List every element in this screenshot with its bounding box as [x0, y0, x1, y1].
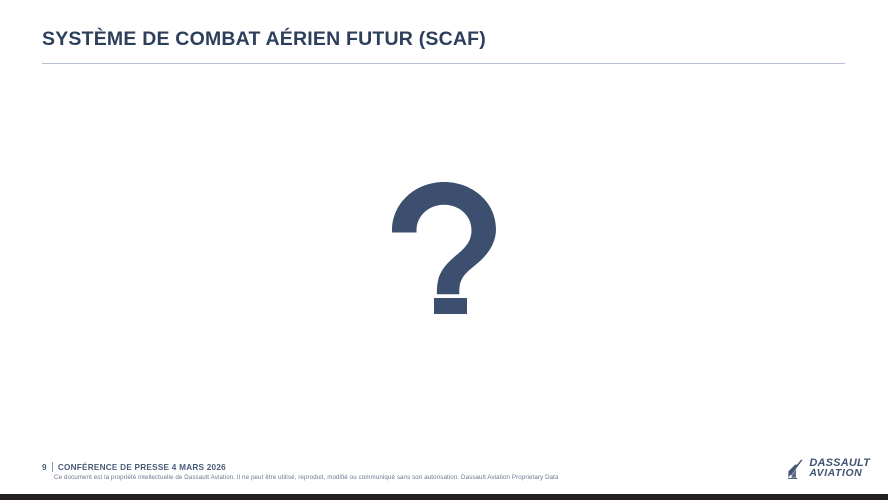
title-divider	[42, 63, 845, 64]
dassault-delta-wing-icon	[787, 459, 806, 479]
footer-disclaimer: Ce document est la propriété intellectue…	[54, 474, 559, 481]
logo-wordmark: DASSAULT AVIATION	[809, 458, 870, 480]
presentation-slide: SYSTÈME DE COMBAT AÉRIEN FUTUR (SCAF) 9 …	[0, 0, 888, 500]
bottom-accent-bar	[0, 494, 888, 500]
question-mark-icon	[392, 182, 496, 314]
footer-event-title: CONFÉRENCE DE PRESSE 4 MARS 2026	[58, 463, 226, 472]
slide-header: SYSTÈME DE COMBAT AÉRIEN FUTUR (SCAF)	[42, 28, 846, 64]
footer-event-line: 9 CONFÉRENCE DE PRESSE 4 MARS 2026	[42, 462, 559, 472]
footer-info: 9 CONFÉRENCE DE PRESSE 4 MARS 2026 Ce do…	[42, 462, 559, 481]
question-mark-graphic	[0, 86, 888, 218]
page-title: SYSTÈME DE COMBAT AÉRIEN FUTUR (SCAF)	[42, 28, 846, 51]
footer-separator	[52, 462, 53, 472]
page-number: 9	[42, 463, 52, 472]
logo-line-aviation: AVIATION	[809, 469, 870, 480]
dassault-aviation-logo: DASSAULT AVIATION	[787, 458, 870, 480]
slide-body	[0, 86, 888, 452]
